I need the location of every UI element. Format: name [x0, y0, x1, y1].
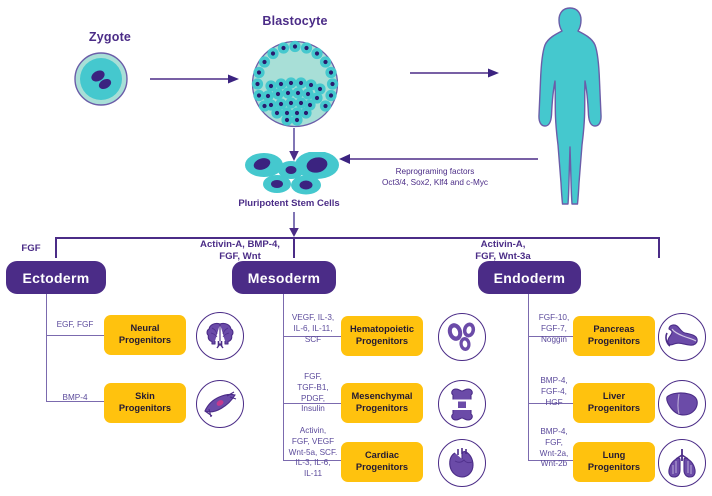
progenitor-skin[interactable]: Skin Progenitors — [104, 383, 186, 423]
ectoderm-row1-line — [46, 335, 104, 336]
skin-fibroblast-icon — [196, 380, 244, 428]
stem-cell-differentiation-diagram: Zygote Blastocyte — [0, 0, 712, 496]
progenitor-lung[interactable]: Lung Progenitors — [573, 442, 655, 482]
liver-icon — [658, 380, 706, 428]
germ-layer-ectoderm[interactable]: Ectoderm — [6, 261, 106, 294]
zygote-cell-icon — [73, 51, 129, 112]
germ-layer-mesoderm[interactable]: Mesoderm — [232, 261, 336, 294]
progenitor-hematopoietic[interactable]: Hematopoietic Progenitors — [341, 316, 423, 356]
blastocyte-label: Blastocyte — [240, 14, 350, 28]
blastocyte-icon — [251, 40, 339, 133]
germ-layer-bus-line — [55, 237, 659, 239]
progenitor-neural[interactable]: Neural Progenitors — [104, 315, 186, 355]
heart-icon — [438, 439, 486, 487]
progenitor-cardiac[interactable]: Cardiac Progenitors — [341, 442, 423, 482]
bus-drop-endoderm — [658, 237, 660, 258]
mesoderm-induction-factors: Activin-A, BMP-4, FGF, Wnt — [185, 239, 295, 262]
ectoderm-row2-growth-factors: BMP-4 — [44, 393, 106, 404]
germ-layer-endoderm[interactable]: Endoderm — [478, 261, 581, 294]
mesoderm-row1-growth-factors: VEGF, IL-3, IL-6, IL-11, SCF — [282, 313, 344, 345]
adult-human-body-icon — [530, 5, 610, 212]
ectoderm-row1-growth-factors: EGF, FGF — [44, 320, 106, 331]
ectoderm-induction-factors: FGF — [8, 243, 54, 255]
ectoderm-trunk-line — [46, 294, 47, 401]
zygote-label: Zygote — [60, 30, 160, 44]
bus-drop-ectoderm — [55, 237, 57, 258]
pluripotent-stem-cells-icon — [238, 152, 340, 201]
arrow-blastocyte-to-human — [410, 66, 500, 84]
endoderm-induction-factors: Activin-A, FGF, Wnt-3a — [448, 239, 558, 262]
mesoderm-row3-growth-factors: Activin, FGF, VEGF Wnt-5a, SCF. IL-3, IL… — [282, 426, 344, 480]
arrow-zygote-to-blastocyte — [150, 72, 240, 90]
reprogramming-factors-text: Reprograming factors Oct3/4, Sox2, Klf4 … — [340, 166, 530, 188]
progenitor-pancreas[interactable]: Pancreas Progenitors — [573, 316, 655, 356]
progenitor-liver[interactable]: Liver Progenitors — [573, 383, 655, 423]
brain-icon — [196, 312, 244, 360]
blood-cells-icon — [438, 313, 486, 361]
pluripotent-stem-cells-label: Pluripotent Stem Cells — [228, 198, 350, 209]
mesoderm-row2-growth-factors: FGF, TGF-B1, PDGF, Insulin — [282, 372, 344, 415]
progenitor-mesenchymal[interactable]: Mesenchymal Progenitors — [341, 383, 423, 423]
bone-joint-icon — [438, 380, 486, 428]
lungs-icon — [658, 439, 706, 487]
pancreas-icon — [658, 313, 706, 361]
